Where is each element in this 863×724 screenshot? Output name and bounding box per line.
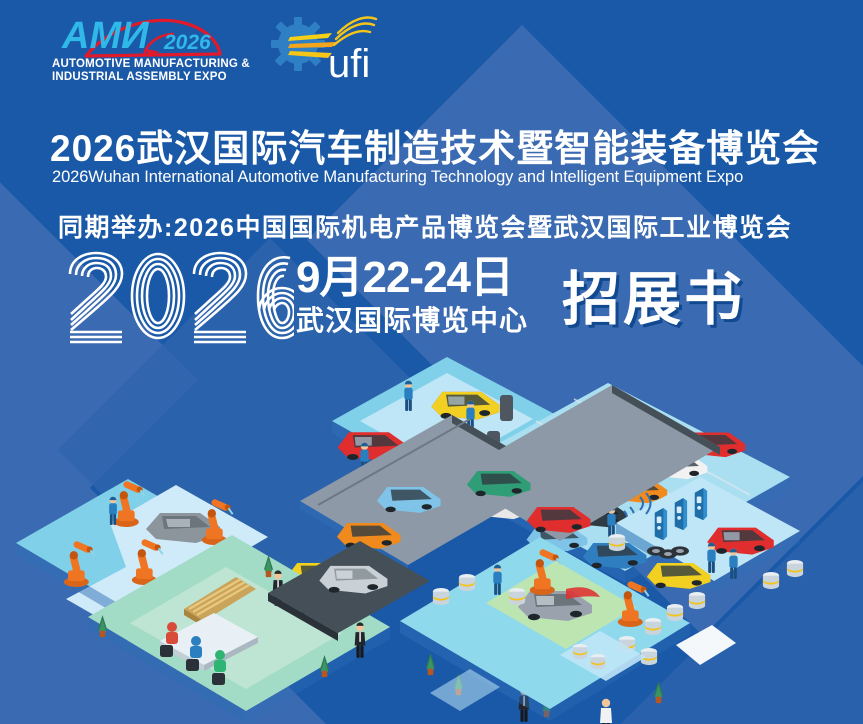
paint-drum xyxy=(787,560,803,577)
paint-drum xyxy=(645,618,661,635)
page-title-english: 2026Wuhan International Automotive Manuf… xyxy=(52,168,852,187)
paint-drum xyxy=(573,644,587,659)
year-outline-graphic: 2026 xyxy=(66,248,294,346)
year-display: 2026 xyxy=(66,248,294,351)
plant-icon xyxy=(654,681,663,703)
ev-charger xyxy=(655,508,667,540)
amia-logo-line1: AUTOMOTIVE MANUFACTURING & xyxy=(52,58,250,71)
year-text: 2026 xyxy=(66,248,102,252)
paint-drum xyxy=(591,654,605,669)
info-band: 2026 9月22-24日 武汉国际博览中心 招展书 xyxy=(0,246,863,356)
paint-drum xyxy=(667,604,683,621)
event-date: 9月22-24日 xyxy=(296,256,528,300)
ufi-logo-graphic: ufi xyxy=(266,11,390,83)
paint-drum xyxy=(763,572,779,589)
paint-drum xyxy=(509,588,525,605)
paint-drum xyxy=(459,574,475,591)
document-label: 招展书 xyxy=(562,252,745,336)
isometric-scene-graphic: .plat-a { fill:#bfe6f7; } .plat-b { fill… xyxy=(0,355,863,724)
plant-icon xyxy=(426,653,435,675)
amia-logo-line2: INDUSTRIAL ASSEMBLY EXPO xyxy=(52,71,250,84)
ev-charger xyxy=(695,488,707,520)
svg-text:2026: 2026 xyxy=(163,31,211,54)
ev-charger xyxy=(675,498,687,530)
isometric-factory-illustration: .plat-a { fill:#bfe6f7; } .plat-b { fill… xyxy=(0,355,863,724)
ufi-logo: ufi xyxy=(266,11,390,83)
attendee-white-shirt xyxy=(600,699,612,724)
poster-root: AMИ 2026 AUTOMOTIVE MANUFACTURING & INDU… xyxy=(0,0,863,724)
paint-drum xyxy=(689,592,705,609)
event-date-block: 9月22-24日 武汉国际博览中心 xyxy=(296,256,528,342)
logo-row: AMИ 2026 AUTOMOTIVE MANUFACTURING & INDU… xyxy=(48,8,390,86)
concurrent-events-subtitle: 同期举办:2026中国国际机电产品博览会暨武汉国际工业博览会 xyxy=(58,208,792,244)
paint-drum xyxy=(433,588,449,605)
amia-logo: AMИ 2026 AUTOMOTIVE MANUFACTURING & INDU… xyxy=(48,8,230,86)
paint-drum xyxy=(609,534,625,551)
svg-text:AMИ: AMИ xyxy=(61,15,149,57)
page-title-chinese: 2026武汉国际汽车制造技术暨智能装备博览会 xyxy=(50,118,840,172)
arc-streak-icon xyxy=(334,18,376,45)
event-venue: 武汉国际博览中心 xyxy=(296,300,528,342)
ufi-wordmark: ufi xyxy=(328,42,370,83)
